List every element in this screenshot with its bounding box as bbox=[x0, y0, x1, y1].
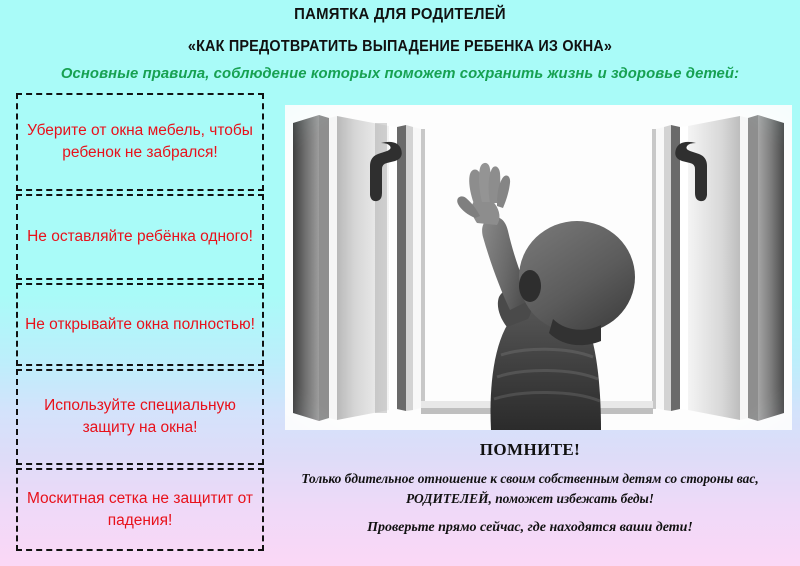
poster-header: ПАМЯТКА ДЛЯ РОДИТЕЛЕЙ «КАК ПРЕДОТВРАТИТЬ… bbox=[0, 0, 800, 82]
list-item: Используйте специальную защиту на окна! bbox=[16, 369, 264, 465]
remember-heading: ПОМНИТЕ! bbox=[270, 440, 790, 460]
list-item: Не оставляйте ребёнка одного! bbox=[16, 194, 264, 280]
remember-body-text: Только бдительное отношение к своим собс… bbox=[270, 469, 790, 509]
page-subtitle: «КАК ПРЕДОТВРАТИТЬ ВЫПАДЕНИЕ РЕБЕНКА ИЗ … bbox=[28, 38, 772, 56]
list-item: Не открывайте окна полностью! bbox=[16, 283, 264, 366]
remember-call-to-action: Проверьте прямо сейчас, где находятся ва… bbox=[270, 520, 790, 536]
photo-container bbox=[285, 105, 792, 430]
rule-text: Уберите от окна мебель, чтобы ребенок не… bbox=[24, 120, 256, 164]
rule-text: Москитная сетка не защитит от падения! bbox=[24, 488, 256, 532]
rules-list: Уберите от окна мебель, чтобы ребенок не… bbox=[16, 93, 264, 554]
safety-poster: ПАМЯТКА ДЛЯ РОДИТЕЛЕЙ «КАК ПРЕДОТВРАТИТЬ… bbox=[0, 0, 800, 566]
remember-section: ПОМНИТЕ! Только бдительное отношение к с… bbox=[270, 440, 790, 536]
rule-text: Используйте специальную защиту на окна! bbox=[24, 395, 256, 439]
rule-text: Не открывайте окна полностью! bbox=[24, 314, 256, 336]
page-title: ПАМЯТКА ДЛЯ РОДИТЕЛЕЙ bbox=[28, 6, 772, 24]
list-item: Москитная сетка не защитит от падения! bbox=[16, 468, 264, 551]
rule-text: Не оставляйте ребёнка одного! bbox=[24, 226, 256, 248]
list-item: Уберите от окна мебель, чтобы ребенок не… bbox=[16, 93, 264, 191]
intro-line: Основные правила, соблюдение которых пом… bbox=[4, 65, 796, 82]
child-at-window-photo bbox=[285, 105, 792, 430]
